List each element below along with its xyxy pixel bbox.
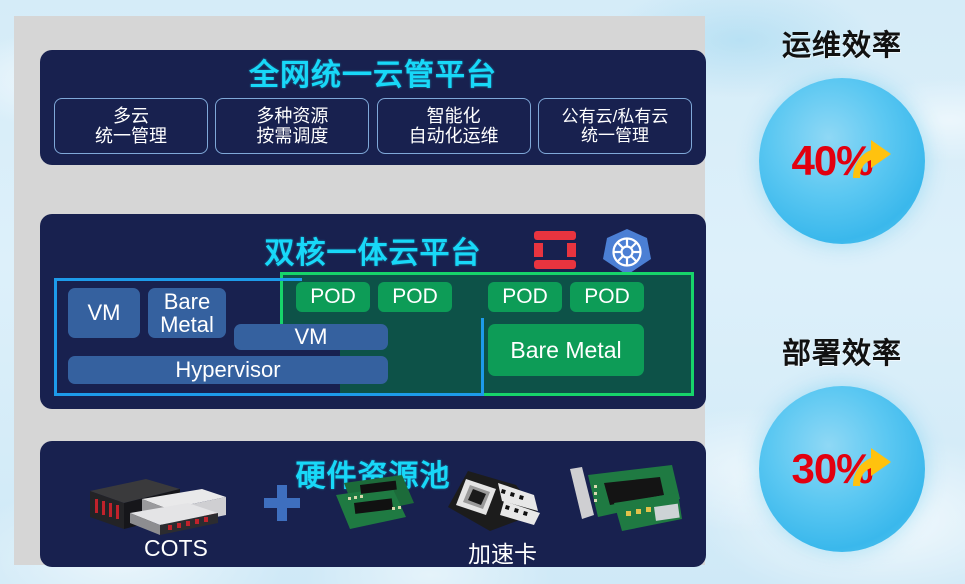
dual-core-platform-panel: 双核一体云平台 (40, 214, 706, 409)
up-arrow-icon (851, 120, 897, 182)
capability-box-multicloud[interactable]: 多云 统一管理 (54, 98, 208, 154)
capability-line1: 多种资源 (256, 106, 328, 126)
architecture-diagram-container: 全网统一云管平台 多云 统一管理 多种资源 按需调度 智能化 自动化运维 公有云… (14, 16, 705, 565)
plus-icon (262, 483, 302, 523)
server-rack-image (84, 473, 234, 535)
cloud-management-panel: 全网统一云管平台 多云 统一管理 多种资源 按需调度 智能化 自动化运维 公有云… (40, 50, 706, 165)
capability-line2: 统一管理 (581, 126, 649, 145)
capability-box-intelligent-ops[interactable]: 智能化 自动化运维 (377, 98, 531, 154)
bare-metal-line1: Bare (164, 290, 210, 313)
capability-line2: 自动化运维 (409, 126, 499, 146)
hypervisor-box[interactable]: Hypervisor (68, 356, 388, 384)
cots-label: COTS (144, 535, 208, 562)
bare-metal-container-box[interactable]: Bare Metal (488, 324, 644, 376)
kpi-title: 运维效率 (722, 22, 962, 64)
up-arrow-icon (851, 428, 897, 490)
kpi-title: 部署效率 (722, 330, 962, 372)
bare-metal-line2: Metal (160, 313, 214, 336)
capability-line1: 多云 (113, 106, 149, 126)
capability-box-public-private-cloud[interactable]: 公有云/私有云 统一管理 (538, 98, 692, 154)
pod-box[interactable]: POD (296, 282, 370, 312)
vm-box[interactable]: VM (68, 288, 140, 338)
gpu-chip-image (442, 467, 552, 537)
cloud-panel-title: 全网统一云管平台 (40, 50, 706, 94)
pod-box[interactable]: POD (378, 282, 452, 312)
kpi-bubble: 30% (759, 386, 925, 552)
capability-line2: 统一管理 (95, 126, 167, 146)
vm-box[interactable]: VM (234, 324, 388, 350)
kubernetes-logo (602, 227, 652, 277)
pod-box[interactable]: POD (570, 282, 644, 312)
accelerator-card-label: 加速卡 (468, 535, 537, 569)
capability-line2: 按需调度 (256, 126, 328, 146)
capability-box-resource-scheduling[interactable]: 多种资源 按需调度 (215, 98, 369, 154)
bare-metal-vm-box[interactable]: Bare Metal (148, 288, 226, 338)
hardware-pool-panel: 硬件资源池 (40, 441, 706, 567)
kpi-bubble: 40% (759, 78, 925, 244)
circuit-board-image (330, 473, 420, 535)
capability-line1: 智能化 (427, 106, 481, 126)
kpi-deploy-efficiency: 部署效率 30% (722, 330, 962, 552)
capability-row: 多云 统一管理 多种资源 按需调度 智能化 自动化运维 公有云/私有云 统一管理 (54, 98, 692, 154)
pod-box[interactable]: POD (488, 282, 562, 312)
kpi-ops-efficiency: 运维效率 40% (722, 22, 962, 244)
capability-line1: 公有云/私有云 (562, 107, 669, 126)
pcie-card-image (564, 463, 684, 539)
openstack-logo (532, 227, 578, 273)
